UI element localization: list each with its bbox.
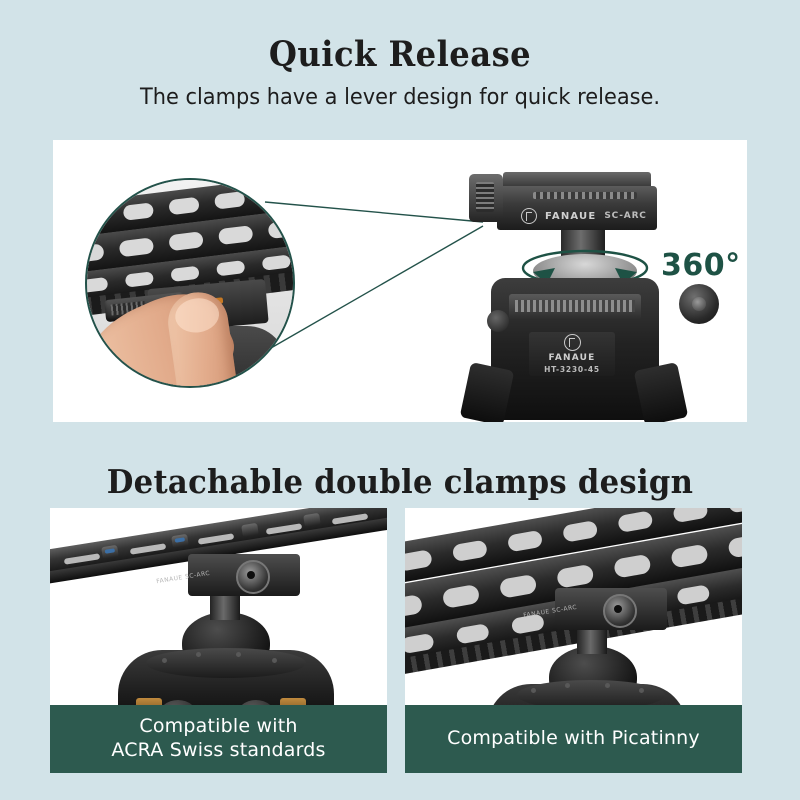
clamp-stem (210, 594, 240, 620)
tension-knob (679, 284, 719, 324)
caption-line-2: ACRA Swiss standards (111, 739, 325, 761)
caption-line-1: Compatible with Picatinny (447, 727, 700, 751)
clamp-stem (577, 628, 607, 654)
hero-image-card: FANAUE SC-ARC 360° FANAUE HT-3230-45 (53, 140, 747, 422)
secondary-knob (487, 310, 509, 332)
ballhead-model-text: HT-3230-45 (544, 365, 600, 374)
panel-picatinny: FANAUE SC-ARC Compatible with Picatinny (405, 508, 742, 773)
panel-photo-picatinny: FANAUE SC-ARC (405, 508, 742, 720)
ball-head-top-plate (509, 294, 641, 320)
ballhead-brand-text: FANAUE (549, 353, 596, 363)
panel-photo-arca: FANAUE SC-ARC (50, 508, 387, 720)
rail-stud (241, 523, 259, 537)
release-lever (469, 174, 503, 222)
fanaue-logo-icon (564, 334, 581, 351)
rail-stud (171, 534, 189, 548)
caption-picatinny: Compatible with Picatinny (405, 705, 742, 773)
caption-arca-swiss: Compatible with ACRA Swiss standards (50, 705, 387, 773)
clamp-lock-knob (603, 594, 637, 628)
infographic-page: Quick Release The clamps have a lever de… (0, 0, 800, 800)
page-title: Quick Release (32, 34, 768, 75)
clamp-brand-text: FANAUE (545, 211, 596, 222)
panel-arca-swiss: FANAUE SC-ARC Compatible with ACRA Swiss… (50, 508, 387, 773)
page-subtitle: The clamps have a lever design for quick… (20, 85, 780, 110)
fanaue-logo-icon (521, 208, 537, 224)
clamp-model-text: SC-ARC (604, 211, 646, 221)
clamp-branding: FANAUE SC-ARC (521, 208, 661, 224)
section-title: Detachable double clamps design (28, 462, 772, 501)
clamp-serrations (533, 192, 637, 199)
rail-stud (303, 513, 321, 527)
caption-line-1: Compatible with (139, 715, 297, 737)
ball-head-branding: FANAUE HT-3230-45 (529, 332, 615, 376)
rail-stud (101, 545, 119, 559)
clamp-lock-knob (236, 560, 270, 594)
magnifier-detail-circle (85, 178, 295, 388)
clamp-ballhead-assembly: FANAUE SC-ARC 360° FANAUE HT-3230-45 (425, 162, 725, 420)
ball-head-ring (146, 648, 306, 678)
rotation-degree-label: 360° (661, 248, 741, 283)
tripod-leg (634, 362, 689, 422)
